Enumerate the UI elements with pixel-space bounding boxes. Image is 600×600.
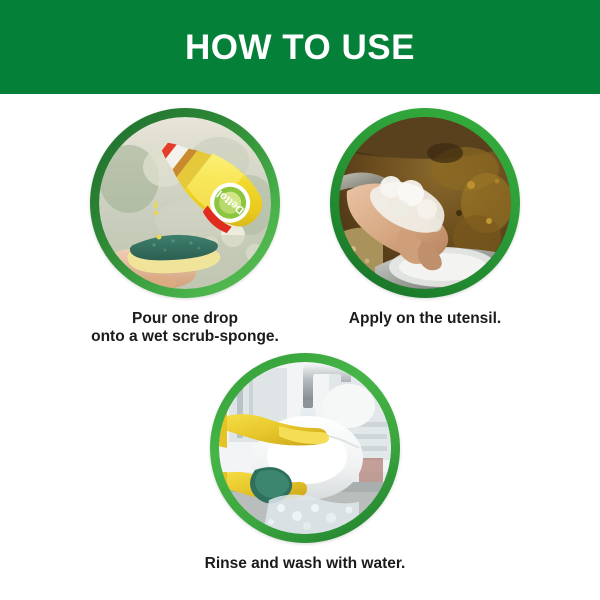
apply-on-utensil-photo [339,117,511,289]
step-3-circle-frame [210,353,400,543]
header-banner: HOW TO USE [0,0,600,94]
steps-container: Dettol [0,94,600,600]
step-3: Rinse and wash with water. [180,353,430,573]
step-1-caption-line-1: Pour one drop [60,310,310,328]
step-1: Dettol [60,108,310,346]
step-2-caption: Apply on the utensil. [300,310,550,328]
page-title: HOW TO USE [185,30,415,65]
step-1-caption-line-2: onto a wet scrub-sponge. [60,328,310,346]
step-2: Apply on the utensil. [300,108,550,328]
step-1-circle-frame: Dettol [90,108,280,298]
step-2-caption-line-1: Apply on the utensil. [300,310,550,328]
step-2-circle-frame [330,108,520,298]
step-1-caption: Pour one drop onto a wet scrub-sponge. [60,310,310,346]
rinse-wash-with-water-photo [219,362,391,534]
step-3-caption: Rinse and wash with water. [180,555,430,573]
pour-drop-onto-sponge-photo: Dettol [99,117,271,289]
step-3-caption-line-1: Rinse and wash with water. [180,555,430,573]
